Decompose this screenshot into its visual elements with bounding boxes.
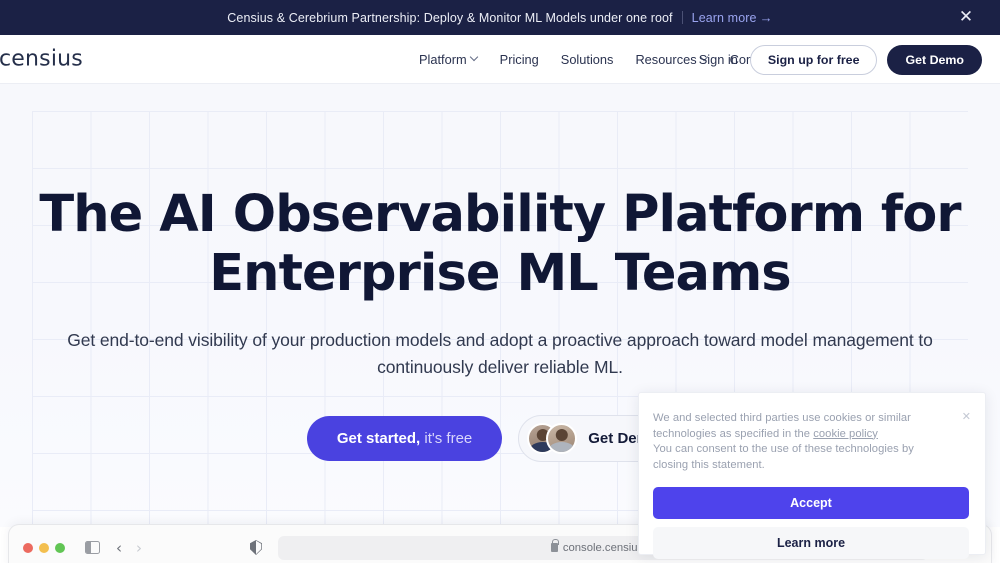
hero-subheadline: Get end-to-end visibility of your produc…: [65, 327, 935, 381]
minimize-window-icon[interactable]: [39, 543, 49, 553]
lock-icon: [551, 543, 558, 552]
shield-icon[interactable]: [250, 540, 262, 555]
banner-divider: [682, 11, 683, 24]
avatar-body: [549, 442, 575, 454]
arrow-right-icon: →: [760, 10, 773, 25]
cookie-consent-text: We and selected third parties use cookie…: [653, 411, 951, 473]
announcement-learn-more-label: Learn more: [692, 11, 757, 25]
sidebar-toggle-icon[interactable]: [85, 541, 100, 554]
cookie-consent-dialog: ✕ We and selected third parties use cook…: [638, 392, 986, 555]
nav-item-label: Solutions: [561, 52, 614, 67]
get-started-label-strong: Get started,: [337, 430, 420, 447]
traffic-lights: [23, 543, 65, 553]
sign-up-button[interactable]: Sign up for free: [750, 45, 878, 75]
cookie-paragraph-2: You can consent to the use of these tech…: [653, 442, 951, 473]
avatar-head: [556, 429, 568, 441]
get-demo-button[interactable]: Get Demo: [887, 45, 982, 75]
nav-actions: Sign in Sign up for free Get Demo: [699, 35, 982, 84]
close-window-icon[interactable]: [23, 543, 33, 553]
announcement-message: Censius & Cerebrium Partnership: Deploy …: [227, 11, 672, 25]
get-started-label-light: it's free: [420, 430, 472, 447]
nav-item-platform[interactable]: Platform: [408, 52, 489, 67]
nav-item-label: Resources: [635, 52, 696, 67]
get-started-button[interactable]: Get started, it's free: [307, 416, 502, 461]
sign-in-link[interactable]: Sign in: [699, 52, 738, 67]
cookie-close-icon[interactable]: ✕: [962, 411, 971, 422]
page-title: The AI Observability Platform for Enterp…: [0, 185, 1000, 303]
cookie-learn-more-button[interactable]: Learn more: [653, 527, 969, 559]
navbar: censius Platform Pricing Solutions Resou…: [0, 35, 1000, 84]
announcement-banner: Censius & Cerebrium Partnership: Deploy …: [0, 0, 1000, 35]
nav-item-pricing[interactable]: Pricing: [489, 52, 550, 67]
page-root: Censius & Cerebrium Partnership: Deploy …: [0, 0, 1000, 563]
avatar: [546, 423, 577, 454]
nav-item-label: Platform: [419, 52, 467, 67]
close-icon[interactable]: ✕: [955, 7, 977, 29]
nav-item-solutions[interactable]: Solutions: [550, 52, 625, 67]
back-arrow-icon[interactable]: ‹: [116, 539, 122, 557]
maximize-window-icon[interactable]: [55, 543, 65, 553]
cookie-policy-link[interactable]: cookie policy: [813, 428, 878, 440]
cookie-accept-button[interactable]: Accept: [653, 487, 969, 519]
chevron-down-icon: [471, 54, 478, 61]
forward-arrow-icon[interactable]: ›: [136, 539, 142, 557]
avatar-group: [527, 423, 577, 454]
headline-line-2: Enterprise ML Teams: [209, 244, 791, 303]
headline-line-1: The AI Observability Platform for: [39, 185, 960, 244]
logo[interactable]: censius: [0, 47, 83, 72]
nav-item-label: Pricing: [500, 52, 539, 67]
announcement-text: Censius & Cerebrium Partnership: Deploy …: [227, 10, 772, 25]
announcement-learn-more-link[interactable]: Learn more→: [692, 11, 773, 25]
